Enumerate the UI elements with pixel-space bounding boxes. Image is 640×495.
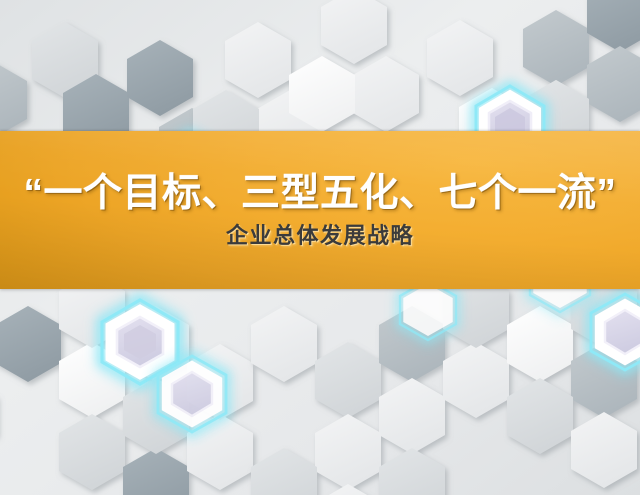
- title-banner: “一个目标、三型五化、七个一流” 企业总体发展战略: [0, 131, 640, 289]
- slide-canvas: “一个目标、三型五化、七个一流” 企业总体发展战略: [0, 0, 640, 495]
- page-subtitle: 企业总体发展战略: [226, 225, 414, 247]
- glow-hexagon: [156, 352, 228, 436]
- page-title: “一个目标、三型五化、七个一流”: [23, 174, 616, 213]
